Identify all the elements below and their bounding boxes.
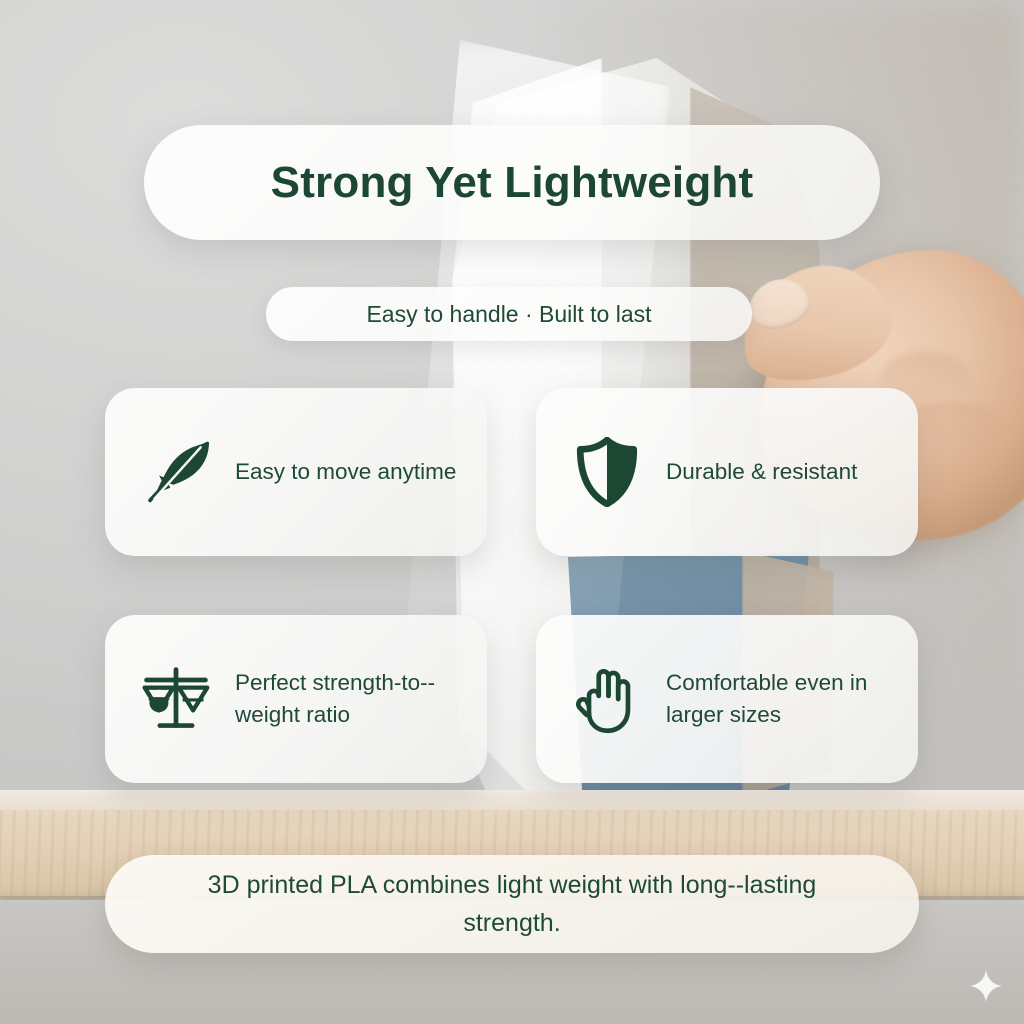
shield-icon [570,435,644,509]
footer-text: 3D printed PLA combines light weight wit… [162,866,862,942]
feather-icon [139,435,213,509]
feature-card-durable[interactable]: Durable & resistant [536,388,918,556]
feature-label: Easy to move anytime [235,456,456,488]
page-subtitle: Easy to handle · Built to last [366,301,651,328]
subtitle-pill: Easy to handle · Built to last [266,287,752,341]
title-pill: Strong Yet Lightweight [144,125,880,240]
page-title: Strong Yet Lightweight [271,158,754,208]
feature-card-easy-to-move[interactable]: Easy to move anytime [105,388,487,556]
poster-canvas: Strong Yet Lightweight Easy to handle · … [0,0,1024,1024]
scales-icon [139,662,213,736]
feature-label: Durable & resistant [666,456,857,488]
feature-card-strength-to-weight[interactable]: Perfect strength-to--weight ratio [105,615,487,783]
feature-label: Comfortable even in larger sizes [666,667,896,731]
sparkle-icon [968,968,1004,1004]
feature-label: Perfect strength-to--weight ratio [235,667,465,731]
open-hand-icon [570,662,644,736]
footer-banner: 3D printed PLA combines light weight wit… [105,855,919,953]
feature-card-comfortable[interactable]: Comfortable even in larger sizes [536,615,918,783]
